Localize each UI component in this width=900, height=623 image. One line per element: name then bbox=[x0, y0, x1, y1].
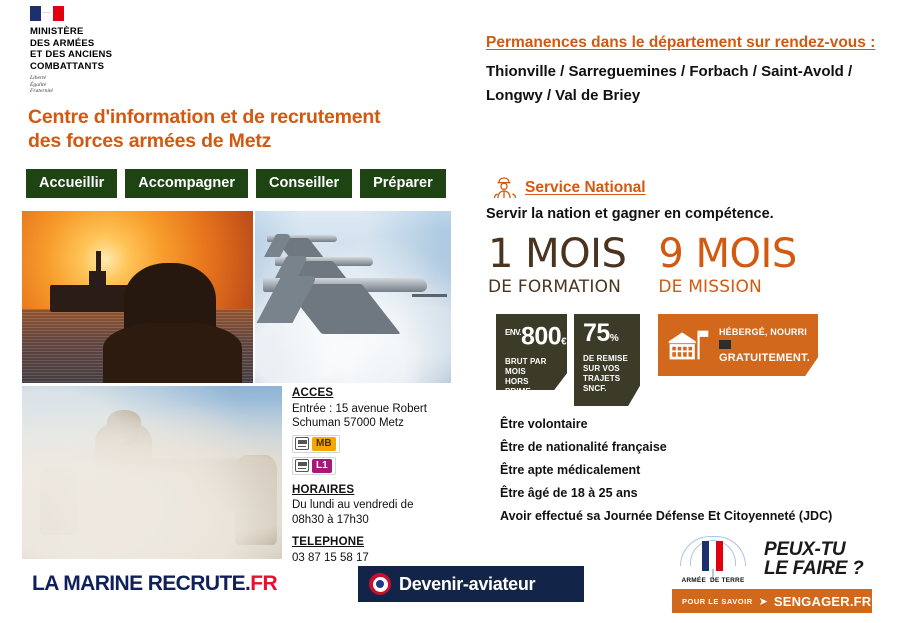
acces-heading: ACCES bbox=[292, 386, 472, 401]
housing-caption-line-2: GRATUITEMENT. bbox=[719, 352, 810, 365]
discount-caption-line-1: DE REMISE bbox=[583, 354, 631, 364]
armee-de-terre-logo-icon: ARMÉE DE TERRE bbox=[672, 536, 754, 582]
housing-caption-line-1: HÉBERGÉ, NOURRI bbox=[719, 326, 810, 352]
barracks-icon bbox=[666, 323, 711, 367]
marine-recrute-logo[interactable]: LA MARINE RECRUTE.FR bbox=[32, 572, 277, 596]
cta-site-url: SENGAGER.FR bbox=[774, 594, 872, 609]
discount-caption-line-4: SNCF. bbox=[583, 384, 631, 394]
criterion-3: Être apte médicalement bbox=[500, 459, 890, 482]
republic-motto: Liberté Égalité Fraternité bbox=[30, 75, 170, 95]
salary-caption: BRUT PAR MOIS HORS PRIME. bbox=[505, 357, 558, 397]
page-title-line-1: Centre d'information et de recrutement bbox=[28, 105, 458, 129]
page-title-line-2: des forces armées de Metz bbox=[28, 129, 458, 153]
cocarde-icon bbox=[369, 573, 391, 595]
ministry-line-4: COMBATTANTS bbox=[30, 61, 170, 73]
service-national-subtitle: Servir la nation et gagner en compétence… bbox=[486, 206, 886, 222]
devenir-aviateur-label: Devenir-aviateur bbox=[399, 574, 535, 595]
sengager-cta-button[interactable]: POUR LE SAVOIR ➤ SENGAGER.FR bbox=[672, 589, 872, 613]
salary-caption-line-2: HORS PRIME. bbox=[505, 377, 558, 397]
pillar-accompagner[interactable]: Accompagner bbox=[125, 169, 248, 198]
duration-blocks: 1 MOIS DE FORMATION 9 MOIS DE MISSION bbox=[488, 232, 797, 298]
address-line-2: Schuman 57000 Metz bbox=[292, 416, 472, 431]
salary-caption-line-1: BRUT PAR MOIS bbox=[505, 357, 558, 377]
criterion-5: Avoir effectué sa Journée Défense Et Cit… bbox=[500, 505, 890, 528]
housing-badge: HÉBERGÉ, NOURRI GRATUITEMENT. bbox=[658, 314, 818, 376]
mission-label: DE MISSION bbox=[658, 276, 796, 298]
mission-duration: 9 MOIS bbox=[658, 232, 796, 276]
address-line-1: Entrée : 15 avenue Robert bbox=[292, 402, 472, 417]
benefit-badges: ENV.800€ BRUT PAR MOIS HORS PRIME. 75% D… bbox=[496, 314, 818, 406]
arrow-icon: ➤ bbox=[759, 595, 768, 608]
cta-prefix: POUR LE SAVOIR bbox=[682, 597, 753, 606]
page-title: Centre d'information et de recrutement d… bbox=[28, 105, 458, 153]
service-national-header: Service National bbox=[492, 176, 646, 200]
criterion-2: Être de nationalité française bbox=[500, 436, 890, 459]
marine-logo-tld: FR bbox=[250, 572, 277, 595]
formation-label: DE FORMATION bbox=[488, 276, 626, 298]
horaires-line-1: Du lundi au vendredi de bbox=[292, 498, 472, 513]
ministry-line-1: MINISTÈRE bbox=[30, 26, 170, 38]
pillar-accueillir[interactable]: Accueillir bbox=[26, 169, 117, 198]
permanences-title: Permanences dans le département sur rend… bbox=[486, 33, 886, 52]
transport-row-l1: L1 bbox=[292, 457, 472, 475]
discount-amount: 75% bbox=[583, 320, 631, 352]
pillar-preparer[interactable]: Préparer bbox=[360, 169, 446, 198]
line-badge-mb: MB bbox=[312, 437, 336, 451]
ministry-line-2: DES ARMÉES bbox=[30, 38, 170, 50]
salary-amount: ENV.800€ bbox=[505, 320, 558, 355]
soldier-icon bbox=[492, 176, 518, 200]
motto-egalite: Égalité bbox=[30, 82, 170, 89]
duration-formation: 1 MOIS DE FORMATION bbox=[488, 232, 626, 298]
discount-caption-line-3: TRAJETS bbox=[583, 374, 631, 384]
permanences-line-2: Longwy / Val de Briey bbox=[486, 84, 886, 108]
bus-icon bbox=[295, 437, 309, 450]
criterion-1: Être volontaire bbox=[500, 413, 890, 436]
ministry-line-3: ET DES ANCIENS bbox=[30, 49, 170, 61]
slogan-line-2: LE FAIRE ? bbox=[764, 559, 863, 578]
slogan-line-1: PEUX-TU bbox=[764, 540, 863, 559]
salary-unit: € bbox=[561, 336, 566, 347]
photo-soldiers-artillery-dust bbox=[22, 386, 282, 559]
permanences-line-1: Thionville / Sarreguemines / Forbach / S… bbox=[486, 60, 886, 84]
telephone-heading: TELEPHONE bbox=[292, 535, 472, 550]
armee-de-terre-block: ARMÉE DE TERRE PEUX-TU LE FAIRE ? POUR L… bbox=[672, 536, 884, 613]
access-info-block: ACCES Entrée : 15 avenue Robert Schuman … bbox=[292, 386, 472, 565]
tram-icon bbox=[295, 459, 309, 472]
formation-duration: 1 MOIS bbox=[488, 232, 626, 276]
ministry-logo: MINISTÈRE DES ARMÉES ET DES ANCIENS COMB… bbox=[30, 6, 170, 95]
horaires-line-2: 08h30 à 17h30 bbox=[292, 513, 472, 528]
line-badge-l1: L1 bbox=[312, 459, 332, 473]
sncf-discount-badge: 75% DE REMISE SUR VOS TRAJETS SNCF. bbox=[574, 314, 640, 406]
photo-rafale-jets-formation bbox=[255, 211, 451, 383]
photo-aircraft-carrier-sunset bbox=[22, 211, 253, 383]
poster-root: MINISTÈRE DES ARMÉES ET DES ANCIENS COMB… bbox=[0, 0, 900, 623]
devenir-aviateur-logo[interactable]: Devenir-aviateur bbox=[358, 566, 584, 602]
pillar-button-group: Accueillir Accompagner Conseiller Prépar… bbox=[26, 169, 446, 198]
motto-fraternite: Fraternité bbox=[30, 88, 170, 95]
ministry-name: MINISTÈRE DES ARMÉES ET DES ANCIENS COMB… bbox=[30, 26, 170, 72]
armee-de-terre-wordmark: ARMÉE DE TERRE bbox=[672, 577, 754, 584]
transport-row-mb: MB bbox=[292, 435, 472, 453]
housing-caption: HÉBERGÉ, NOURRI GRATUITEMENT. bbox=[719, 326, 810, 365]
eligibility-criteria: Être volontaire Être de nationalité fran… bbox=[500, 413, 890, 528]
salary-prefix: ENV. bbox=[505, 328, 521, 337]
transport-chip-l1: L1 bbox=[292, 457, 336, 475]
pillar-conseiller[interactable]: Conseiller bbox=[256, 169, 352, 198]
salary-badge: ENV.800€ BRUT PAR MOIS HORS PRIME. bbox=[496, 314, 567, 390]
discount-caption-line-2: SUR VOS bbox=[583, 364, 631, 374]
discount-caption: DE REMISE SUR VOS TRAJETS SNCF. bbox=[583, 354, 631, 394]
marine-logo-main: LA MARINE RECRUTE. bbox=[32, 572, 250, 595]
salary-number: 800 bbox=[521, 322, 561, 350]
discount-unit: % bbox=[610, 333, 618, 344]
motto-liberte: Liberté bbox=[30, 75, 170, 82]
discount-number: 75 bbox=[583, 319, 610, 347]
transport-chip-mb: MB bbox=[292, 435, 340, 453]
duration-mission: 9 MOIS DE MISSION bbox=[658, 232, 796, 298]
french-flag-icon bbox=[30, 6, 170, 22]
permanences-list: Thionville / Sarreguemines / Forbach / S… bbox=[486, 60, 886, 108]
telephone-value: 03 87 15 58 17 bbox=[292, 551, 472, 566]
slogan-peux-tu-le-faire: PEUX-TU LE FAIRE ? bbox=[764, 540, 863, 578]
criterion-4: Être âgé de 18 à 25 ans bbox=[500, 482, 890, 505]
horaires-heading: HORAIRES bbox=[292, 483, 472, 498]
service-national-label[interactable]: Service National bbox=[525, 179, 646, 197]
redaction-mark bbox=[719, 340, 731, 349]
